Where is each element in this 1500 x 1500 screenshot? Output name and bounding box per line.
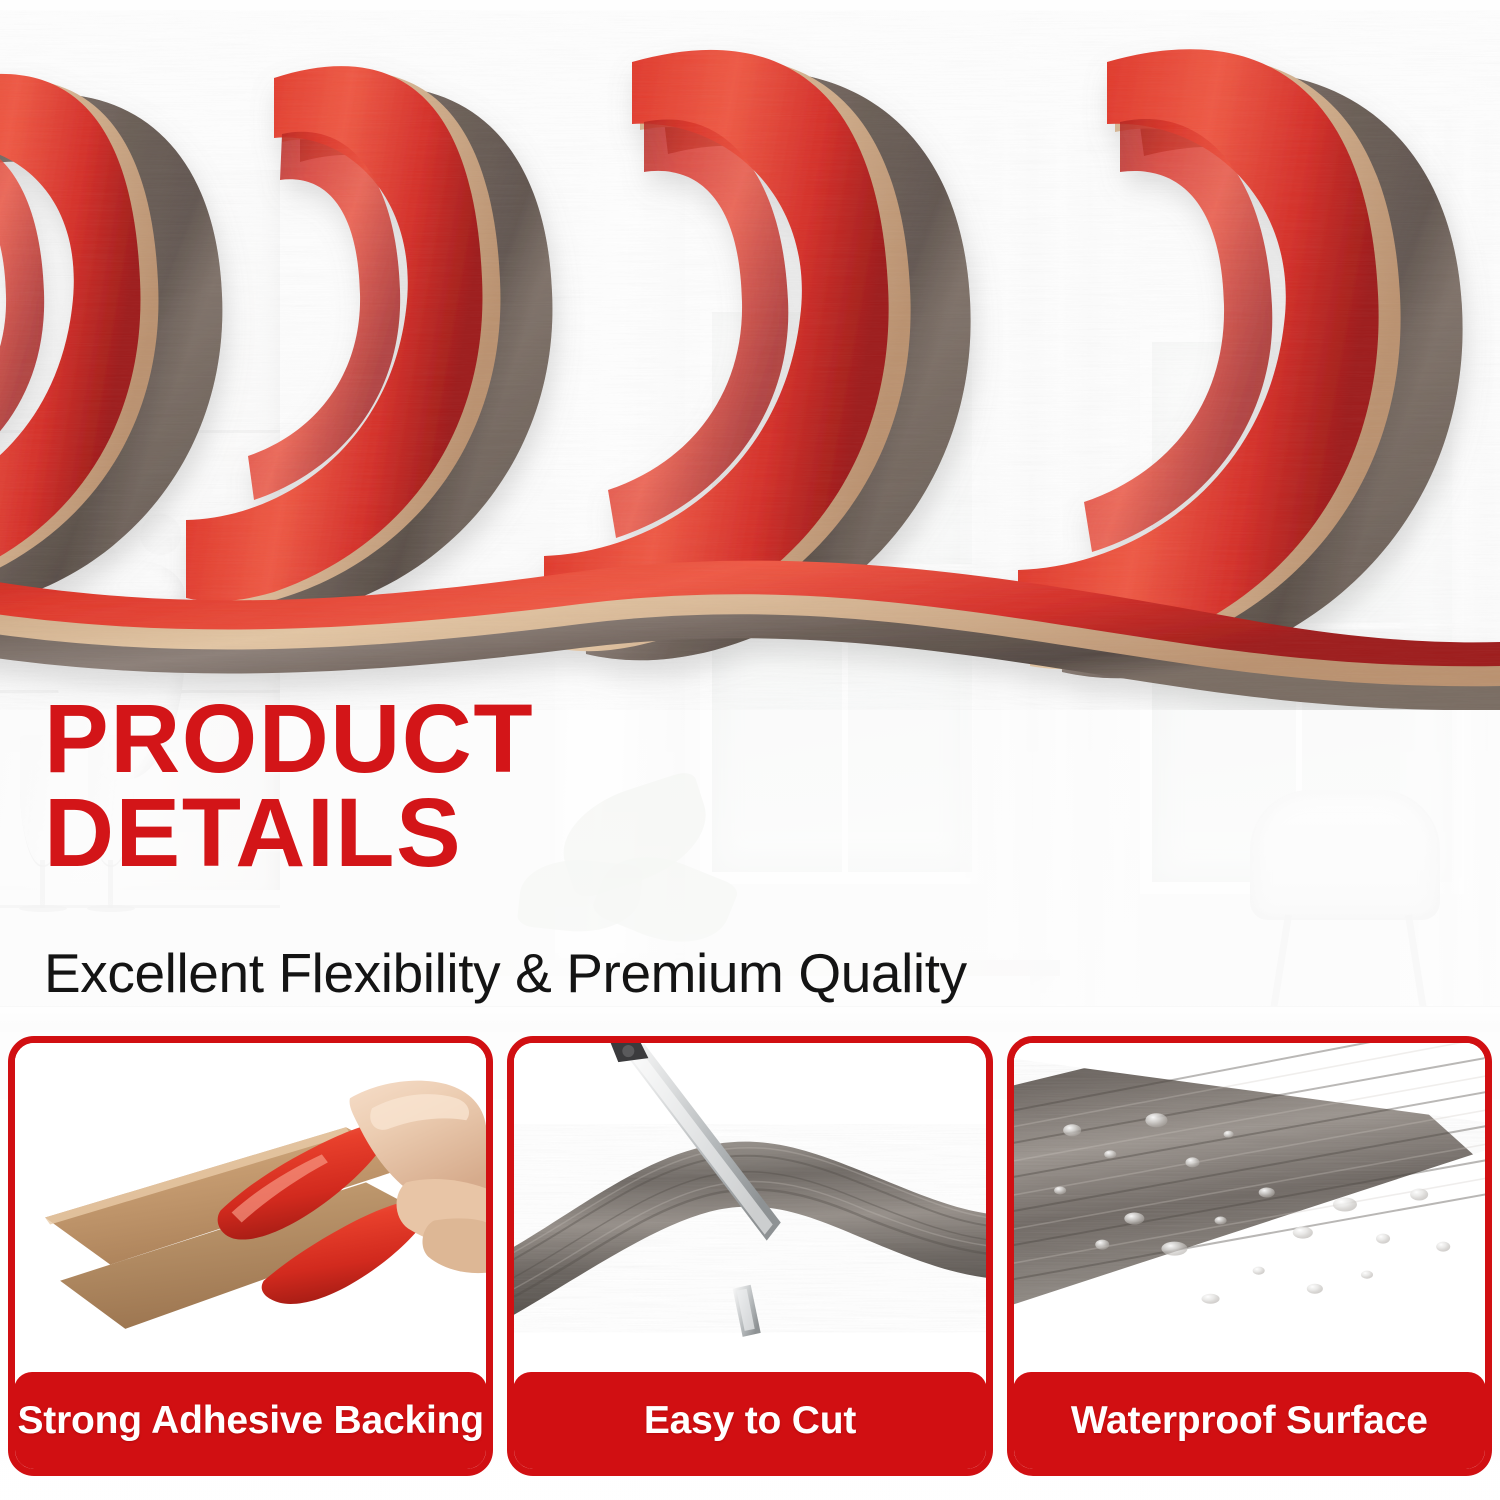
- hand-peeling-adhesive-liner-photo: [15, 1043, 486, 1372]
- hero-product-image: [0, 0, 1500, 710]
- title-line-2: DETAILS: [44, 786, 534, 880]
- panel-caption-waterproof: Waterproof Surface: [1013, 1372, 1486, 1470]
- page-subtitle: Excellent Flexibility & Premium Quality: [44, 941, 967, 1005]
- feature-panels: Strong Adhesive Backing: [0, 1036, 1500, 1476]
- edge-banding-coils-illustration: [0, 0, 1500, 710]
- feature-panel-adhesive[interactable]: Strong Adhesive Backing: [8, 1036, 493, 1476]
- coil-2: [186, 66, 552, 616]
- feature-panel-cut[interactable]: Easy to Cut: [507, 1036, 992, 1476]
- page-title: PRODUCT DETAILS: [44, 692, 534, 880]
- panel-caption-cut: Easy to Cut: [513, 1372, 986, 1470]
- feature-panel-waterproof[interactable]: Waterproof Surface: [1007, 1036, 1492, 1476]
- panel-caption-adhesive: Strong Adhesive Backing: [14, 1372, 487, 1470]
- title-line-1: PRODUCT: [44, 692, 534, 786]
- scissors-cutting-banding-photo: [514, 1043, 985, 1372]
- water-beading-on-banding-photo: [1014, 1043, 1485, 1372]
- infographic-page: PRODUCT DETAILS Excellent Flexibility & …: [0, 0, 1500, 1500]
